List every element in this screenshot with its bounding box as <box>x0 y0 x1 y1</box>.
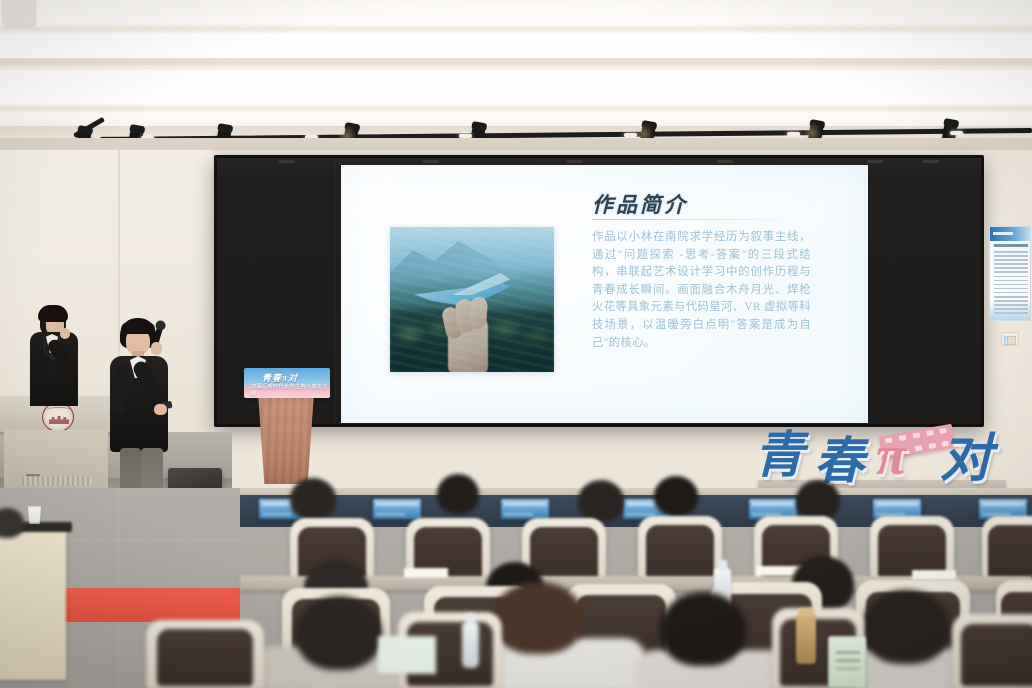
lectern-banner-subtitle: 故事汇新时代大学生奋斗成长主题 <box>251 383 330 397</box>
audience-head <box>578 480 624 522</box>
slide-photo <box>390 227 554 372</box>
sign-char-4: 对 <box>940 434 992 486</box>
podium-vent <box>22 476 92 486</box>
audience-seat <box>952 614 1032 688</box>
presenter-right-fringe <box>121 322 155 334</box>
poster-text-lines <box>994 251 1028 317</box>
sign-char-3: π <box>876 428 907 484</box>
audience-head <box>437 474 479 514</box>
side-desk <box>0 530 66 680</box>
led-mount-tab <box>423 160 439 163</box>
presenter-left <box>24 306 94 406</box>
ceiling-beam <box>0 58 1032 65</box>
presenter-left-hand <box>60 328 70 339</box>
led-mount-tab <box>867 160 883 163</box>
presenter-left-hair <box>38 305 68 322</box>
downlight-icon <box>624 133 637 137</box>
led-mount-tab <box>923 160 939 163</box>
led-mount-tab <box>279 160 295 163</box>
lectern-body <box>256 398 316 484</box>
sign-char-2: 春 <box>814 436 864 486</box>
audience-head <box>654 476 698 516</box>
desk-paper <box>378 636 436 674</box>
slide-title-divider <box>592 219 800 220</box>
wall-outlet[interactable] <box>1001 332 1019 346</box>
led-mount-tab <box>567 160 583 163</box>
green-box <box>828 636 866 688</box>
stage-decorative-sign: 青 春 π 对 <box>748 424 1014 490</box>
audience-head <box>862 590 950 664</box>
presenter-right-hand-left <box>151 342 162 355</box>
audience-head <box>290 478 336 520</box>
led-mount-tab <box>717 160 733 163</box>
gold-thermos <box>796 614 816 664</box>
audience-head <box>492 582 584 654</box>
lectern-banner: 青春π对 故事汇新时代大学生奋斗成长主题 <box>244 368 330 398</box>
desk-monitor[interactable] <box>500 498 550 520</box>
desk-paper <box>912 570 956 580</box>
presenter-right-hand-right <box>154 404 167 415</box>
downlight-icon <box>950 131 963 135</box>
poster-title-bar <box>994 244 1028 247</box>
audience-seat <box>146 620 264 688</box>
lectern[interactable]: 青春π对 故事汇新时代大学生奋斗成长主题 <box>250 368 322 484</box>
photo-scanline-overlay <box>390 227 554 372</box>
paper-cup <box>27 506 42 524</box>
slide-title: 作品简介 <box>592 189 688 219</box>
audience-head <box>660 592 746 666</box>
university-crest-icon <box>42 402 74 432</box>
wall-trim <box>0 138 1032 150</box>
led-panel-seam <box>335 158 336 424</box>
poster-header-band <box>990 227 1030 241</box>
desk-paper <box>404 568 448 578</box>
presentation-slide[interactable]: 作品简介 作品以小林在南院求学经历为叙事主线，通过"问题探索 -思考-答案"的三… <box>341 165 868 423</box>
ceiling-vent <box>2 0 36 26</box>
desk-monitor[interactable] <box>372 498 422 520</box>
slide-body-text: 作品以小林在南院求学经历为叙事主线，通过"问题探索 -思考-答案"的三段式结构，… <box>592 229 811 352</box>
audience-head <box>296 596 382 670</box>
downlight-icon <box>787 132 800 136</box>
audience-seat <box>638 516 722 582</box>
sign-char-1: 青 <box>754 430 804 480</box>
wall-notice-poster <box>989 226 1031 321</box>
ceiling <box>0 0 1032 132</box>
audience-head <box>796 480 840 520</box>
lecture-hall-scene: 作品简介 作品以小林在南院求学经历为叙事主线，通过"问题探索 -思考-答案"的三… <box>0 0 1032 688</box>
water-bottle <box>462 622 479 668</box>
audience-seat <box>982 516 1032 582</box>
